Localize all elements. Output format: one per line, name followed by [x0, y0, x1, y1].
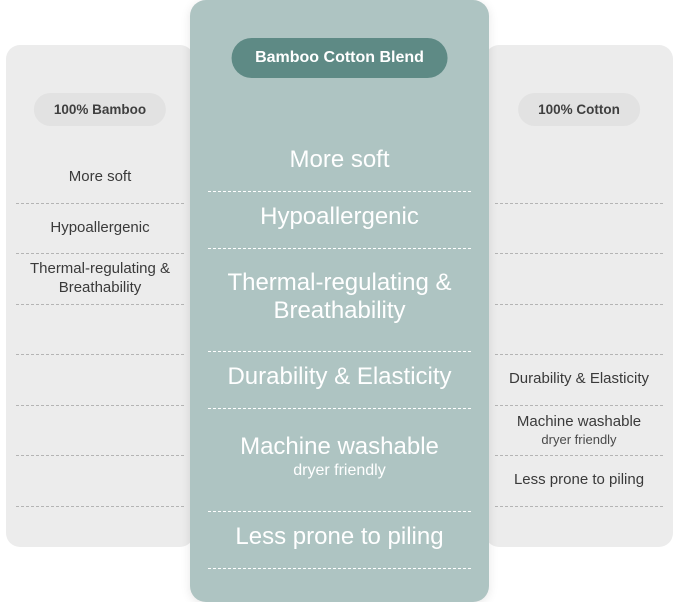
feature-label: Durability & Elasticity: [509, 370, 649, 389]
panel-blend-title: Bamboo Cotton Blend: [231, 38, 448, 78]
feature-label: Hypoallergenic: [50, 219, 149, 238]
list-item: Thermal-regulating & Breathability: [16, 254, 184, 305]
panel-cotton: 100% Cotton Durability & Elasticity Mach…: [485, 45, 673, 547]
feature-label: More soft: [289, 146, 389, 174]
feature-label: Durability & Elasticity: [227, 363, 451, 391]
list-item: Durability & Elasticity: [495, 355, 663, 406]
list-item: [16, 456, 184, 507]
feature-sublabel: dryer friendly: [517, 432, 641, 448]
comparison-chart: 100% Bamboo More soft Hypoallergenic The…: [0, 0, 679, 602]
feature-label: Machine washable: [517, 413, 641, 430]
list-item: More soft: [208, 135, 471, 192]
list-item: [16, 355, 184, 406]
feature-label: Thermal-regulating & Breathability: [18, 260, 182, 298]
list-item: [495, 254, 663, 305]
list-item: Durability & Elasticity: [208, 352, 471, 409]
panel-bamboo-feature-list: More soft Hypoallergenic Thermal-regulat…: [16, 153, 184, 507]
list-item: [495, 305, 663, 356]
list-item: Hypoallergenic: [16, 204, 184, 255]
list-item: Hypoallergenic: [208, 192, 471, 249]
feature-label: Hypoallergenic: [260, 203, 419, 231]
list-item: Machine washable dryer friendly: [208, 409, 471, 512]
panel-cotton-title: 100% Cotton: [518, 93, 640, 126]
feature-sublabel: dryer friendly: [293, 462, 385, 481]
feature-label: Machine washable: [240, 433, 439, 461]
feature-label: Thermal-regulating & Breathability: [208, 269, 471, 325]
list-item: [16, 305, 184, 356]
feature-label: Less prone to piling: [514, 471, 644, 490]
list-item: [495, 153, 663, 204]
panel-blend: Bamboo Cotton Blend More soft Hypoallerg…: [190, 0, 489, 602]
list-item: Machine washable dryer friendly: [495, 406, 663, 457]
list-item: More soft: [16, 153, 184, 204]
feature-label: More soft: [69, 168, 132, 187]
panel-bamboo-title: 100% Bamboo: [34, 93, 166, 126]
list-item: [495, 204, 663, 255]
list-item: Less prone to piling: [208, 512, 471, 569]
panel-cotton-feature-list: Durability & Elasticity Machine washable…: [495, 153, 663, 507]
feature-label: Less prone to piling: [235, 523, 443, 551]
list-item: Thermal-regulating & Breathability: [208, 249, 471, 352]
list-item: Less prone to piling: [495, 456, 663, 507]
feature-label-wrap: Machine washable dryer friendly: [517, 413, 641, 448]
panel-bamboo: 100% Bamboo More soft Hypoallergenic The…: [6, 45, 194, 547]
list-item: [16, 406, 184, 457]
panel-blend-feature-list: More soft Hypoallergenic Thermal-regulat…: [208, 135, 471, 569]
